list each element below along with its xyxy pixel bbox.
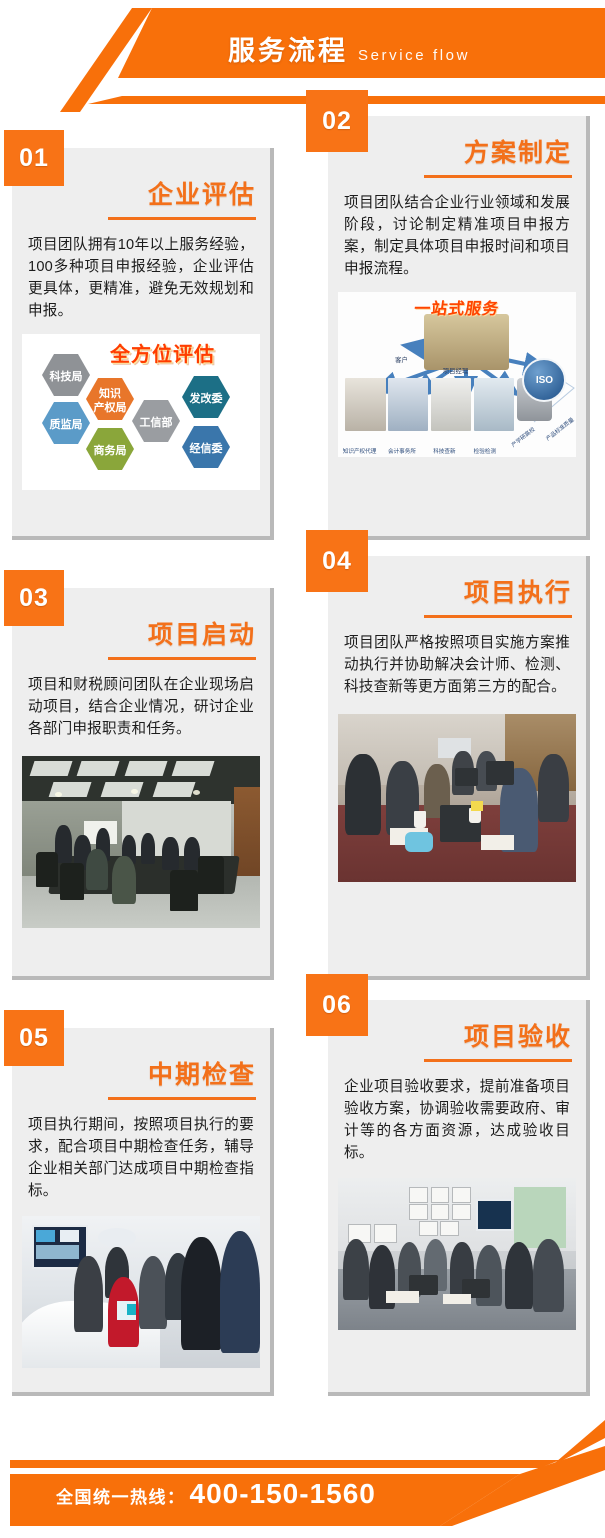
page-subtitle: Service flow xyxy=(358,48,470,63)
footer-label-accounting: 会计事务所 xyxy=(388,447,416,455)
card-number-badge: 04 xyxy=(306,530,368,592)
card-body: 项目团队拥有10年以上服务经验，100多种项目申报经验，企业评估更具体，更精准，… xyxy=(12,220,270,335)
card-number-badge: 02 xyxy=(306,90,368,152)
card-media-photo xyxy=(22,756,260,928)
node-label-manager: 项目经理 xyxy=(443,366,469,375)
card-media-photo xyxy=(338,714,576,882)
card-body: 项目执行期间，按照项目执行的要求，配合项目中期检查任务，辅导企业相关部门达成项目… xyxy=(12,1100,270,1215)
thumb-ip-agency xyxy=(345,378,385,431)
one-stop-hero-photo xyxy=(424,314,510,370)
page-title: 服务流程 xyxy=(228,38,348,65)
card-media-hex-diagram: 全方位评估 科技局 知识产权局 发改委 质监局 xyxy=(22,334,260,490)
page-header: 服务流程 Service flow xyxy=(0,0,605,112)
svg-text:科技局: 科技局 xyxy=(50,369,83,383)
svg-text:经信委: 经信委 xyxy=(190,441,224,455)
card-title: 中期检查 xyxy=(12,1062,270,1090)
card-06[interactable]: 06 项目验收 企业项目验收要求，提前准备项目验收方案，协调验收需要政府、审计等… xyxy=(328,1000,590,1396)
svg-text:产权局: 产权局 xyxy=(94,400,127,414)
svg-text:质监局: 质监局 xyxy=(50,417,83,431)
hex-diagram-caption: 全方位评估 xyxy=(110,338,215,367)
card-body: 企业项目验收要求，提前准备项目验收方案，协调验收需要政府、审计等的各方面资源，达… xyxy=(328,1062,586,1177)
footer-banner-shape xyxy=(0,1416,605,1538)
card-03[interactable]: 03 项目启动 项目和财税顾问团队在企业现场启动项目，结合企业情况，研讨企业各部… xyxy=(12,588,274,980)
photo-showroom xyxy=(22,1216,260,1368)
card-body: 项目和财税顾问团队在企业现场启动项目，结合企业情况，研讨企业各部门申报职责和任务… xyxy=(12,660,270,753)
card-02[interactable]: 02 方案制定 项目团队结合企业行业领域和发展阶段，讨论制定精准项目申报方案，制… xyxy=(328,116,590,540)
footer-label-tech-search: 科技查新 xyxy=(433,447,455,455)
footer-label-ip-agency: 知识产权代理 xyxy=(343,447,377,455)
card-body: 项目团队结合企业行业领域和发展阶段，讨论制定精准项目申报方案，制定具体项目申报时… xyxy=(328,178,586,293)
svg-text:工信部: 工信部 xyxy=(140,415,173,429)
thumb-inspection xyxy=(474,378,514,431)
infographic-page: 服务流程 Service flow 01 企业评估 项目团队拥有10年以上服务经… xyxy=(0,0,605,1538)
photo-acceptance-room xyxy=(338,1178,576,1330)
card-05[interactable]: 05 中期检查 项目执行期间，按照项目执行的要求，配合项目中期检查任务，辅导企业… xyxy=(12,1028,274,1396)
card-title: 项目启动 xyxy=(12,622,270,650)
card-number-badge: 06 xyxy=(306,974,368,1036)
card-number-badge: 05 xyxy=(4,1010,64,1066)
svg-text:发改委: 发改委 xyxy=(189,391,224,405)
thumb-accounting xyxy=(388,378,428,431)
card-body: 项目团队严格按照项目实施方案推动执行并协助解决会计师、检测、科技查新等更方面第三… xyxy=(328,618,586,711)
thumb-tech-search xyxy=(431,378,471,431)
card-media-one-stop-diagram: 一站式服务 xyxy=(338,292,576,457)
one-stop-caption: 一站式服务 xyxy=(413,295,501,319)
card-media-photo xyxy=(338,1178,576,1330)
card-media-photo xyxy=(22,1216,260,1368)
photo-desk-work xyxy=(338,714,576,882)
card-01[interactable]: 01 企业评估 项目团队拥有10年以上服务经验，100多种项目申报经验，企业评估… xyxy=(12,148,274,540)
card-04[interactable]: 04 项目执行 项目团队严格按照项目实施方案推动执行并协助解决会计师、检测、科技… xyxy=(328,556,590,980)
page-footer: 全国统一热线： 400-150-1560 xyxy=(0,1416,605,1538)
hexagon-diagram: 全方位评估 科技局 知识产权局 发改委 质监局 xyxy=(22,334,260,490)
one-stop-service-diagram: 一站式服务 xyxy=(338,292,576,457)
hotline-number[interactable]: 400-150-1560 xyxy=(190,1478,376,1510)
card-number-badge: 01 xyxy=(4,130,64,186)
footer-label-inspection: 检验检测 xyxy=(474,447,496,455)
svg-text:知识: 知识 xyxy=(98,386,121,400)
photo-meeting-room xyxy=(22,756,260,928)
hotline-label: 全国统一热线： xyxy=(56,1483,186,1508)
svg-text:商务局: 商务局 xyxy=(94,443,127,457)
node-label-customer: 客户 xyxy=(395,355,408,364)
card-title: 企业评估 xyxy=(12,182,270,210)
card-number-badge: 03 xyxy=(4,570,64,626)
